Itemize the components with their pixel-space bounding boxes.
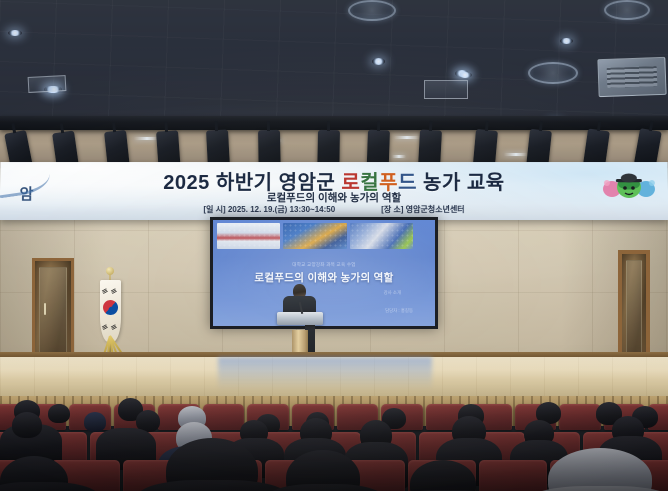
banner-meta-place: [장 소] 영암군청소년센터 — [381, 204, 464, 215]
seat — [559, 404, 601, 430]
audience-head — [12, 412, 42, 438]
trigram-ri — [111, 288, 117, 293]
audience-head — [84, 412, 106, 432]
lectern-podium — [277, 312, 323, 325]
slide-photo-crowd — [350, 223, 413, 249]
stage-left-door[interactable] — [32, 258, 74, 364]
stage-spotlight — [317, 130, 340, 166]
fluorescent-strip — [504, 153, 528, 156]
stage-spotlight — [418, 129, 442, 166]
banner-subtitle: 로컬푸드의 이해와 농가의 역할 — [0, 190, 668, 205]
fluorescent-strip — [394, 136, 420, 139]
banner-meta-date: [일 시] 2025. 12. 19.(금) 13:30~14:50 — [203, 204, 335, 215]
slide-photo-banner — [217, 223, 280, 249]
slide-title: 로컬푸드의 이해와 농가의 역할 — [213, 270, 435, 285]
stage-spotlight — [258, 130, 281, 166]
stage-spotlight — [206, 129, 230, 166]
screen-reflection-on-floor — [218, 357, 432, 391]
slide-photo-market — [283, 223, 346, 249]
south-korea-flag-taegukgi — [92, 272, 128, 364]
banner-meta: [일 시] 2025. 12. 19.(금) 13:30~14:50 [장 소]… — [0, 204, 668, 215]
audience-area — [0, 398, 668, 491]
slide-byline: 강사 소개 — [384, 290, 401, 296]
stage-right-door[interactable] — [618, 250, 650, 366]
taeguk-symbol — [100, 297, 120, 317]
stage-spotlight — [367, 130, 390, 167]
projection-screen-frame: 대학교 교양강좌 과목 교육 수업 로컬푸드의 이해와 농가의 역할 강사 소개… — [210, 217, 438, 329]
slide-photo-strip — [217, 223, 413, 249]
stage-floor — [0, 357, 668, 399]
door-glass-panel — [626, 260, 642, 356]
lighting-truss — [0, 116, 668, 130]
slide-byline-secondary: 담당자 : 홍길동 — [385, 308, 413, 314]
seat — [203, 404, 245, 430]
fluorescent-strip — [392, 155, 406, 158]
event-banner: 암 2025 하반기 영암군 로컬푸드 농가 교육 로컬푸드의 이해와 농가의 … — [0, 162, 668, 220]
door-handle[interactable] — [44, 303, 46, 315]
seat — [479, 460, 547, 491]
trigram-gon — [111, 324, 117, 329]
audience-head — [48, 404, 70, 423]
auditorium-photo: 암 2025 하반기 영암군 로컬푸드 농가 교육 로컬푸드의 이해와 농가의 … — [0, 0, 668, 491]
slide-kicker-text: 대학교 교양강좌 과목 교육 수업 — [213, 262, 435, 268]
trigram-gam — [102, 324, 108, 329]
trigram-geon — [102, 288, 108, 293]
projection-screen: 대학교 교양강좌 과목 교육 수업 로컬푸드의 이해와 농가의 역할 강사 소개… — [213, 220, 435, 326]
flag-finial — [106, 267, 114, 275]
flag-cloth — [100, 280, 121, 342]
